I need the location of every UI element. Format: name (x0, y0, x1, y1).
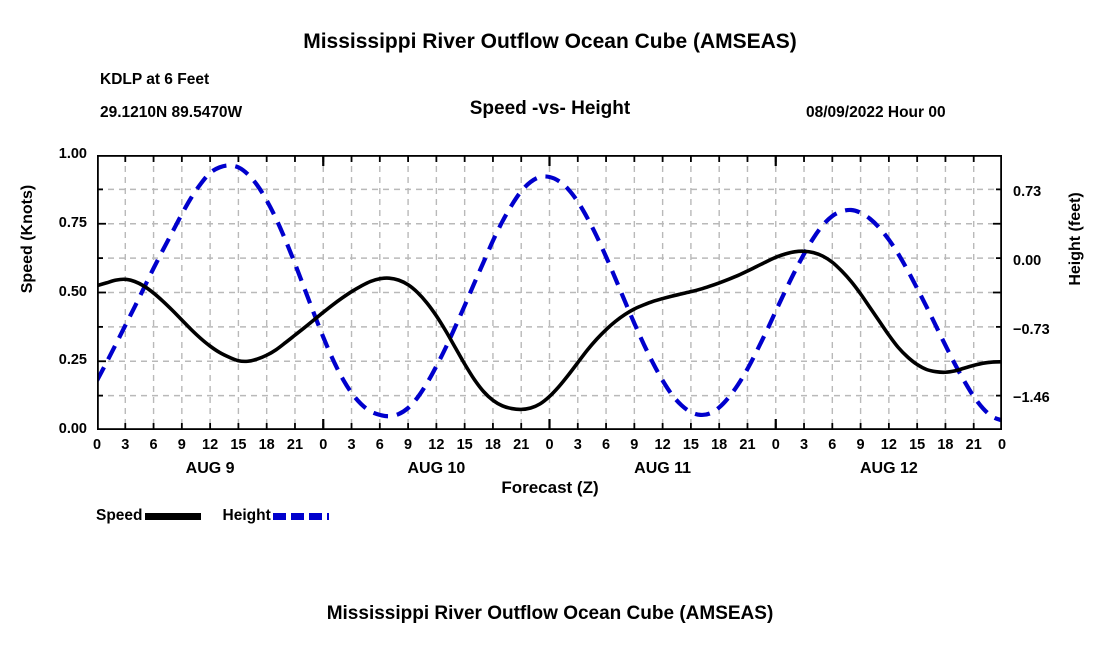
y-left-tick-label: 0.00 (35, 421, 87, 437)
y-left-tick-label: 1.00 (35, 146, 87, 162)
page-title-bottom: Mississippi River Outflow Ocean Cube (AM… (0, 603, 1100, 625)
plot-area (97, 155, 1002, 430)
x-axis-title: Forecast (Z) (0, 478, 1100, 498)
run-date-label: 08/09/2022 Hour 00 (806, 104, 946, 122)
y-left-tick-label: 0.50 (35, 284, 87, 300)
legend-swatch-height (273, 513, 329, 520)
day-label: AUG 9 (160, 460, 260, 478)
y-axis-left-title: Speed (Knots) (19, 149, 37, 329)
day-label: AUG 11 (613, 460, 713, 478)
day-label: AUG 12 (839, 460, 939, 478)
y-axis-right-title: Height (feet) (1067, 149, 1085, 329)
legend-label-speed: Speed (96, 507, 143, 525)
day-label: AUG 10 (386, 460, 486, 478)
y-right-tick-label: 0.73 (1013, 184, 1073, 200)
legend-label-height: Height (223, 507, 271, 525)
y-left-tick-label: 0.25 (35, 352, 87, 368)
page-title-top: Mississippi River Outflow Ocean Cube (AM… (0, 30, 1100, 54)
chart-legend: Speed Height (96, 505, 351, 527)
y-left-tick-label: 0.75 (35, 215, 87, 231)
chart-page: Mississippi River Outflow Ocean Cube (AM… (0, 0, 1100, 650)
x-tick-label: 0 (982, 437, 1022, 453)
y-right-tick-label: −1.46 (1013, 390, 1073, 406)
gridlines (97, 155, 1002, 430)
y-right-tick-label: −0.73 (1013, 322, 1073, 338)
station-label: KDLP at 6 Feet (100, 71, 209, 89)
y-right-tick-label: 0.00 (1013, 253, 1073, 269)
speed-series-line (97, 251, 1002, 409)
legend-swatch-speed (145, 513, 201, 520)
plot-svg (97, 155, 1002, 430)
